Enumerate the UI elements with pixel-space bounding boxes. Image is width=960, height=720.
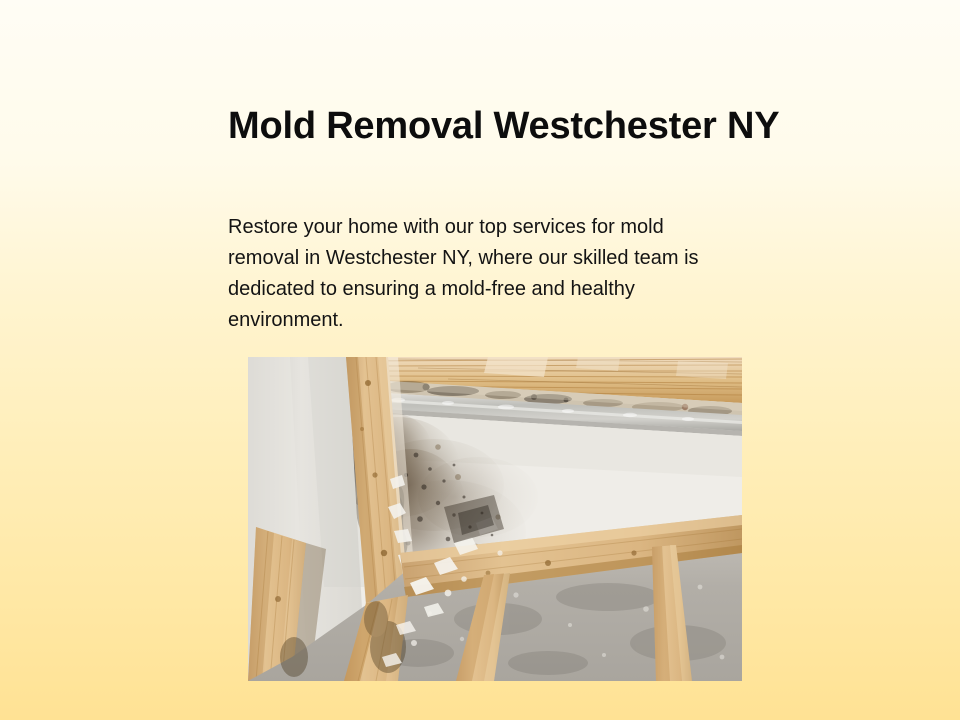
- page-title: Mold Removal Westchester NY: [228, 103, 868, 149]
- slide: Mold Removal Westchester NY Restore your…: [0, 0, 960, 720]
- mold-damage-illustration: [248, 357, 742, 681]
- mold-damage-photo: [248, 357, 742, 681]
- body-paragraph: Restore your home with our top services …: [228, 212, 736, 336]
